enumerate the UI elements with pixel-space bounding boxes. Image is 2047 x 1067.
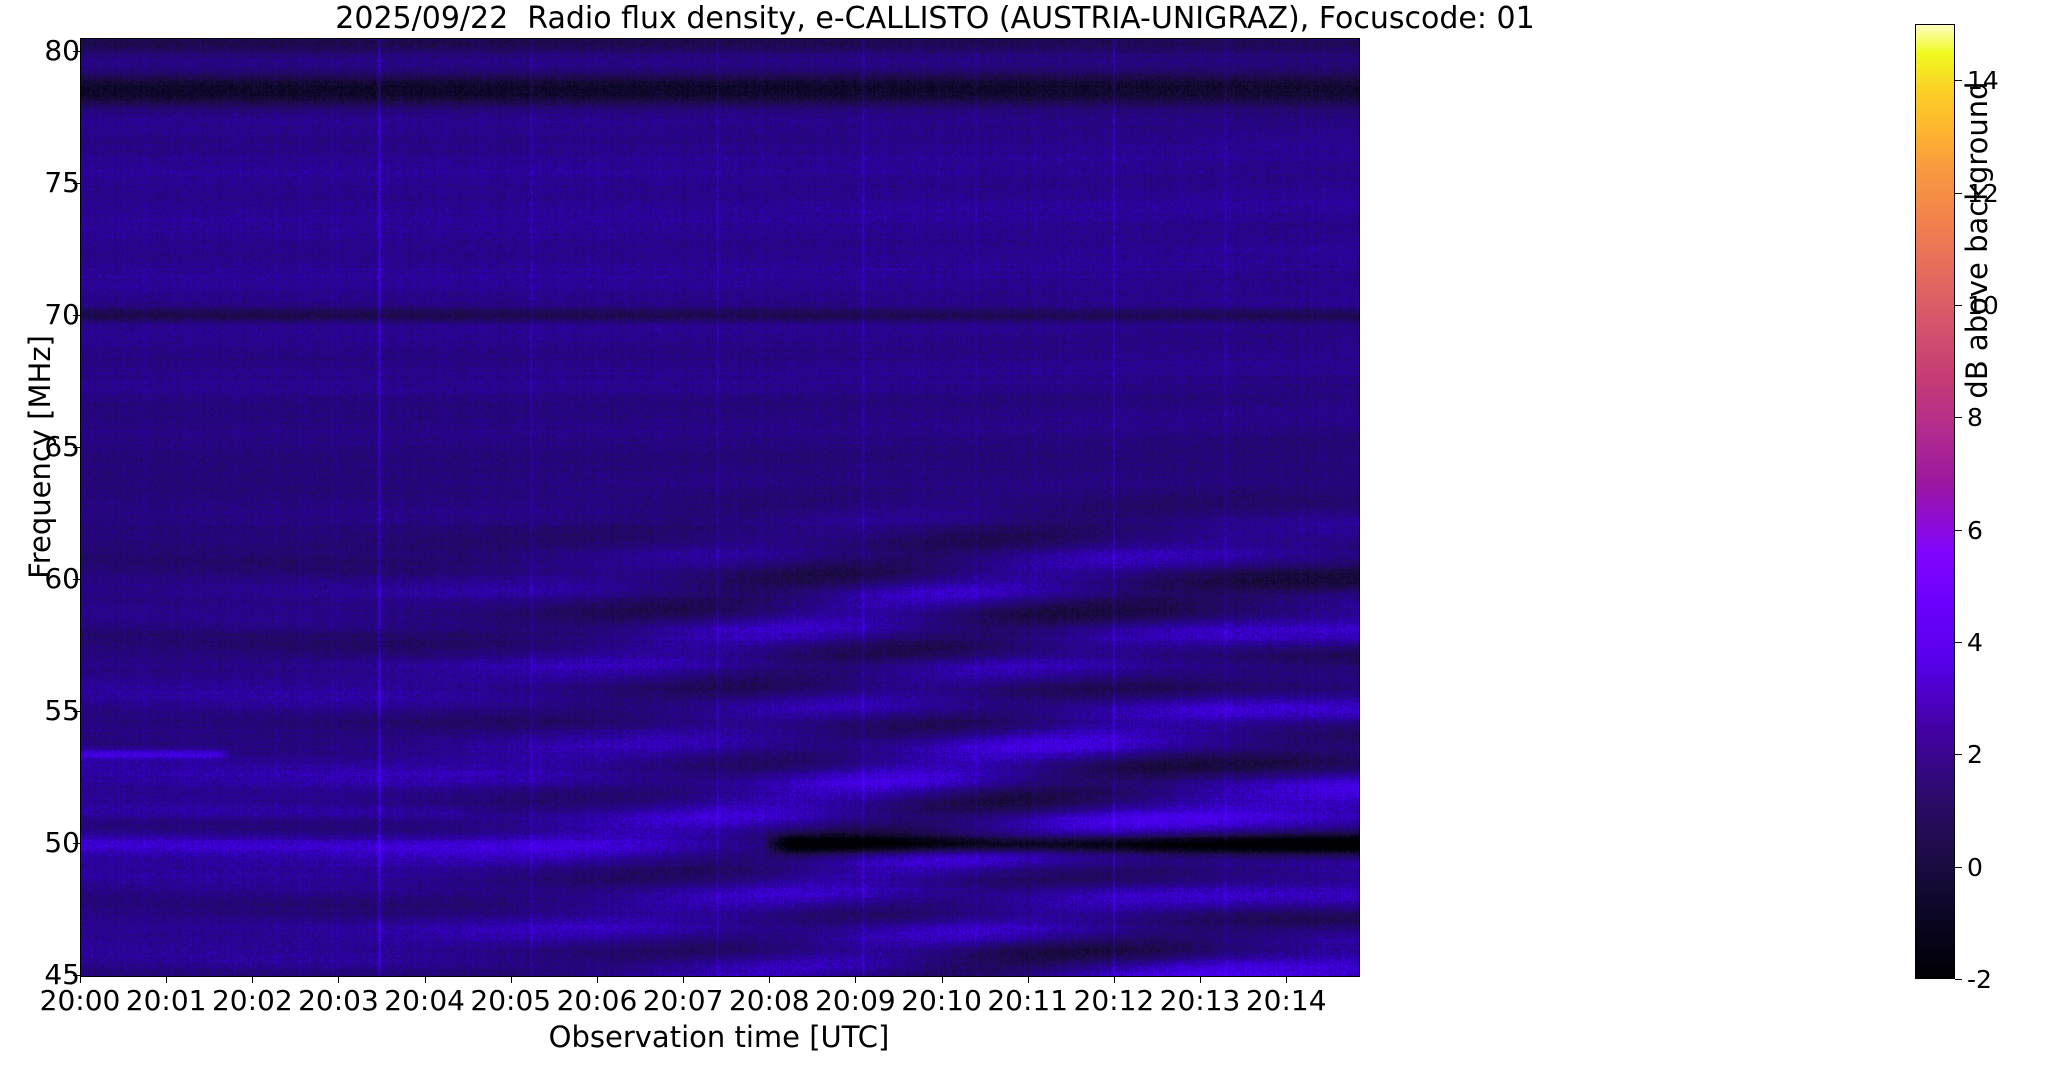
x-tick-mark: [683, 976, 684, 983]
x-tick-label: 20:03: [298, 986, 379, 1016]
colorbar-tick-label: 2: [1967, 742, 1983, 767]
x-tick-mark: [1028, 976, 1029, 983]
colorbar-label: dB above background: [1960, 0, 1994, 500]
x-tick-mark: [425, 976, 426, 983]
y-axis-label: Frequency [MHz]: [23, 227, 57, 687]
x-tick-label: 20:12: [1074, 986, 1155, 1016]
x-tick-mark: [1286, 976, 1287, 983]
spectrogram-image: [81, 39, 1359, 976]
colorbar-tick-mark: [1955, 867, 1962, 868]
x-axis-label: Observation time [UTC]: [80, 1020, 1358, 1054]
x-tick-label: 20:02: [212, 986, 293, 1016]
colorbar[interactable]: -202468101214: [1915, 24, 1955, 979]
x-tick-mark: [80, 976, 81, 983]
colorbar-tick-mark: [1955, 979, 1962, 980]
colorbar-tick-label: -2: [1967, 967, 1992, 992]
x-tick-mark: [855, 976, 856, 983]
x-tick-label: 20:07: [643, 986, 724, 1016]
x-tick-mark: [252, 976, 253, 983]
y-tick-label: 50: [18, 829, 80, 857]
spectrogram-plot-area[interactable]: [80, 38, 1360, 977]
colorbar-tick-label: 4: [1967, 630, 1983, 655]
y-tick-label: 55: [18, 697, 80, 725]
x-tick-mark: [338, 976, 339, 983]
x-tick-mark: [942, 976, 943, 983]
x-tick-label: 20:14: [1246, 986, 1327, 1016]
chart-title: 2025/09/22 Radio flux density, e-CALLIST…: [80, 2, 1790, 36]
colorbar-gradient: [1915, 24, 1955, 979]
colorbar-tick-mark: [1955, 754, 1962, 755]
y-tick-label: 80: [18, 37, 80, 65]
x-tick-label: 20:09: [815, 986, 896, 1016]
x-tick-label: 20:00: [40, 986, 121, 1016]
x-tick-label: 20:08: [729, 986, 810, 1016]
y-tick-label: 75: [18, 169, 80, 197]
x-tick-label: 20:01: [126, 986, 207, 1016]
x-tick-label: 20:13: [1160, 986, 1241, 1016]
x-tick-mark: [166, 976, 167, 983]
x-tick-mark: [597, 976, 598, 983]
colorbar-tick-mark: [1955, 642, 1962, 643]
x-tick-label: 20:05: [470, 986, 551, 1016]
x-tick-mark: [1200, 976, 1201, 983]
colorbar-tick-mark: [1955, 530, 1962, 531]
colorbar-tick-label: 6: [1967, 518, 1983, 543]
x-tick-mark: [511, 976, 512, 983]
x-tick-label: 20:11: [987, 986, 1068, 1016]
x-tick-mark: [1114, 976, 1115, 983]
colorbar-tick-label: 0: [1967, 855, 1983, 880]
x-tick-label: 20:10: [901, 986, 982, 1016]
x-tick-label: 20:06: [557, 986, 638, 1016]
x-tick-label: 20:04: [384, 986, 465, 1016]
x-tick-mark: [769, 976, 770, 983]
